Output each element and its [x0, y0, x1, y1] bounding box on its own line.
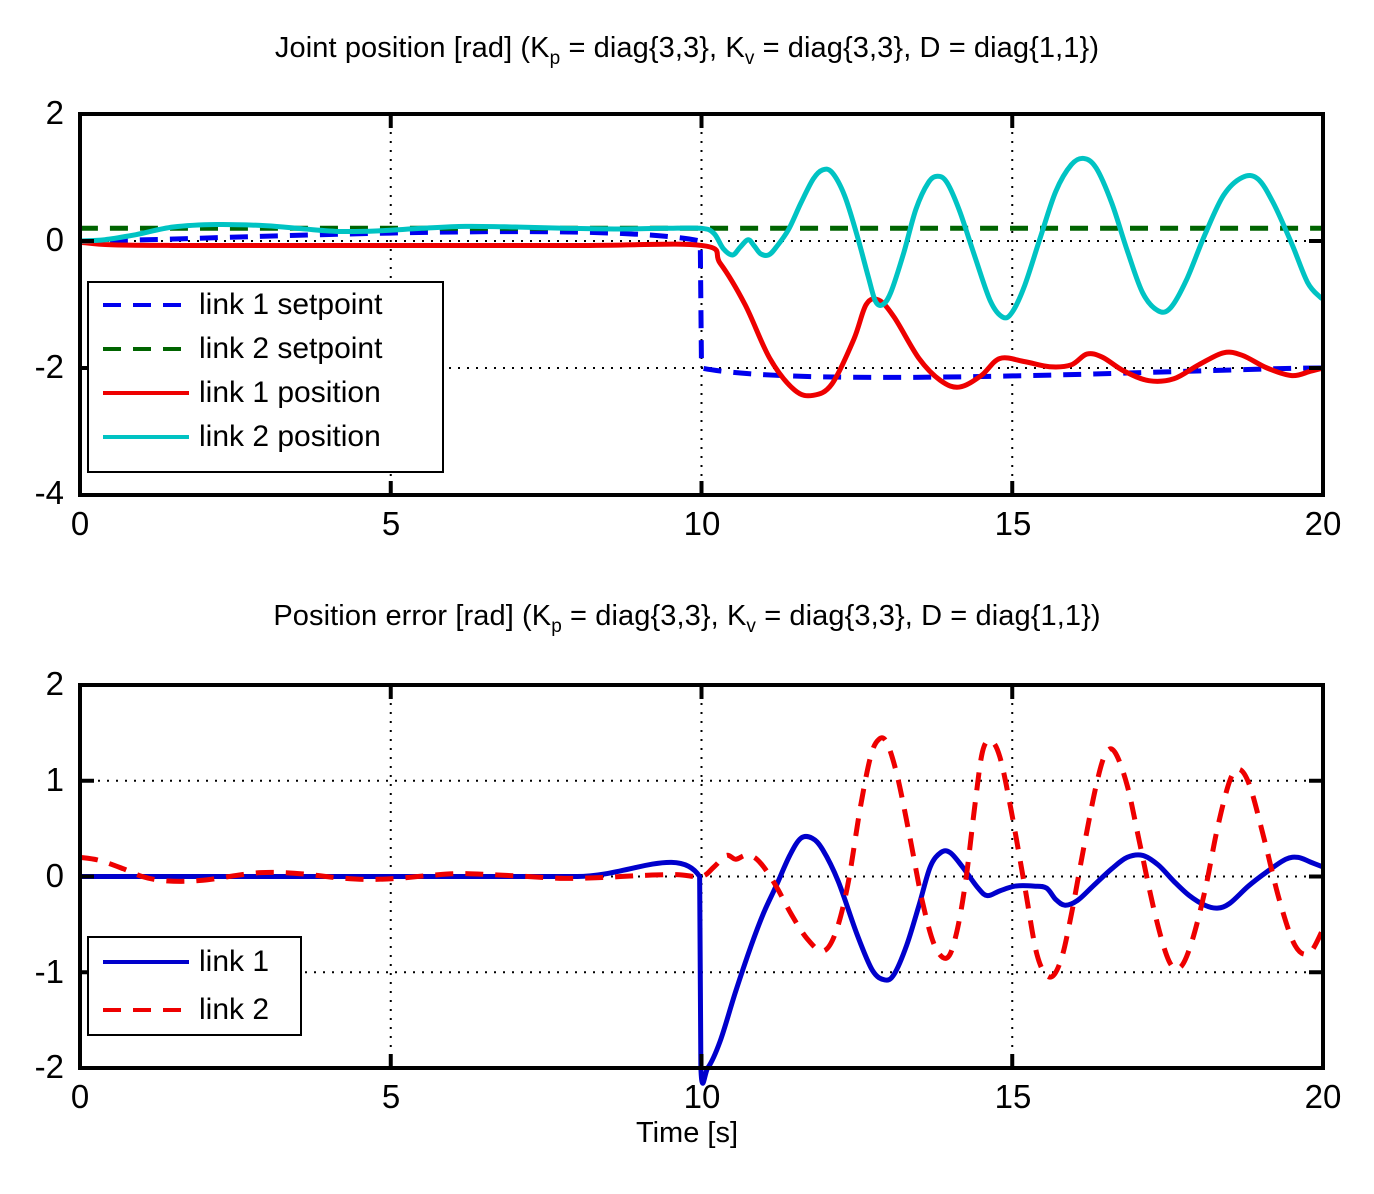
- legend-label-error-link1: link 1: [199, 947, 269, 977]
- legend-label-error-link2: link 2: [199, 995, 269, 1025]
- bottom-legend: link 1 link 2: [87, 936, 302, 1036]
- legend-item-error-link1: link 1: [89, 938, 300, 986]
- legend-item-error-link2: link 2: [89, 986, 300, 1034]
- figure-canvas: Joint position [rad] (Kp = diag{3,3}, Kv…: [0, 0, 1374, 1194]
- legend-swatch-error-link2: [103, 1008, 189, 1012]
- legend-swatch-error-link1: [103, 960, 189, 964]
